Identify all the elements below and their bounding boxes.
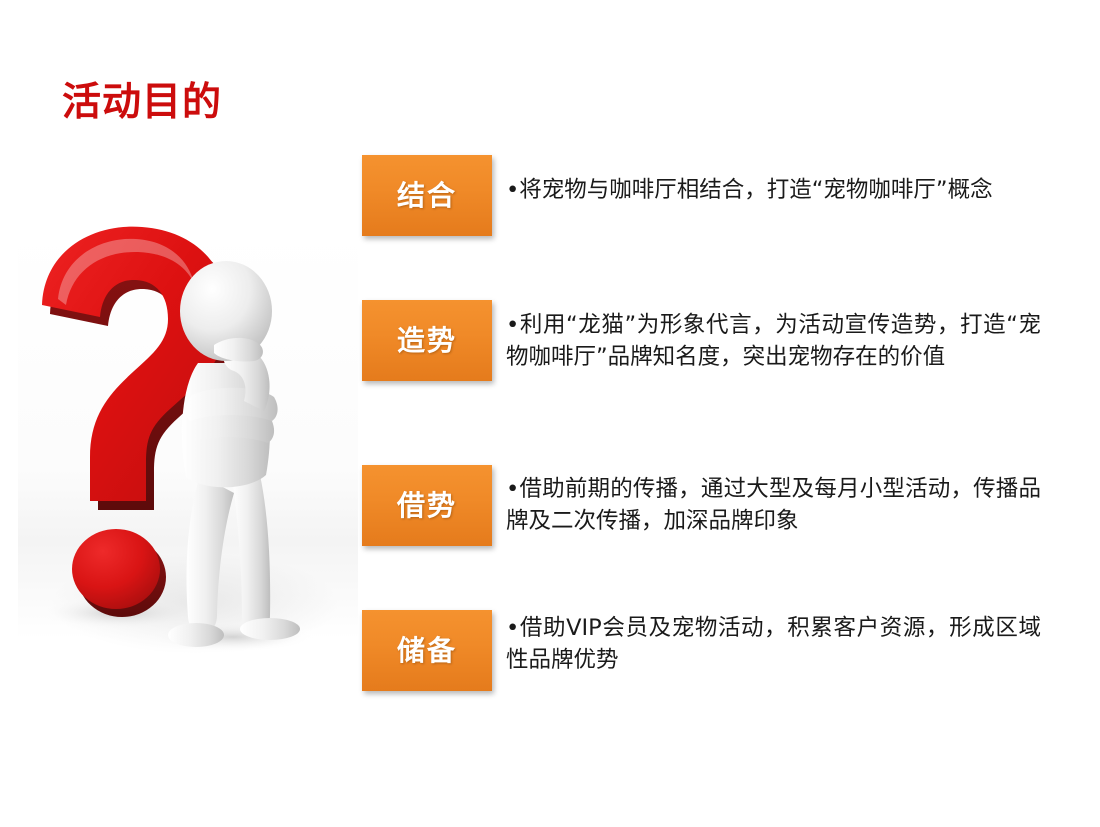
objective-label-box[interactable]: 储备 — [362, 610, 492, 691]
objective-body-text: •借助VIP会员及宠物活动，积累客户资源，形成区域性品牌优势 — [506, 613, 1041, 677]
objective-label-text: 造势 — [397, 327, 457, 355]
objective-label-box[interactable]: 借势 — [362, 465, 492, 546]
illustration-container — [18, 225, 358, 665]
objective-body-text: •利用“龙猫”为形象代言，为活动宣传造势，打造“宠物咖啡厅”品牌知名度，突出宠物… — [506, 310, 1041, 374]
thinking-figure-shape — [168, 261, 300, 647]
objective-body-text: •将宠物与咖啡厅相结合，打造“宠物咖啡厅”概念 — [506, 175, 1041, 207]
objective-label-box[interactable]: 造势 — [362, 300, 492, 381]
objective-label-box[interactable]: 结合 — [362, 155, 492, 236]
objective-body-text: •借助前期的传播，通过大型及每月小型活动，传播品牌及二次传播，加深品牌印象 — [506, 474, 1041, 538]
objective-label-text: 储备 — [397, 637, 457, 665]
objective-label-text: 结合 — [397, 182, 457, 210]
objective-label-text: 借势 — [397, 492, 457, 520]
page-title: 活动目的 — [62, 80, 222, 127]
question-mark-thinker-icon — [18, 225, 358, 665]
slide-canvas: 活动目的 — [0, 0, 1100, 827]
